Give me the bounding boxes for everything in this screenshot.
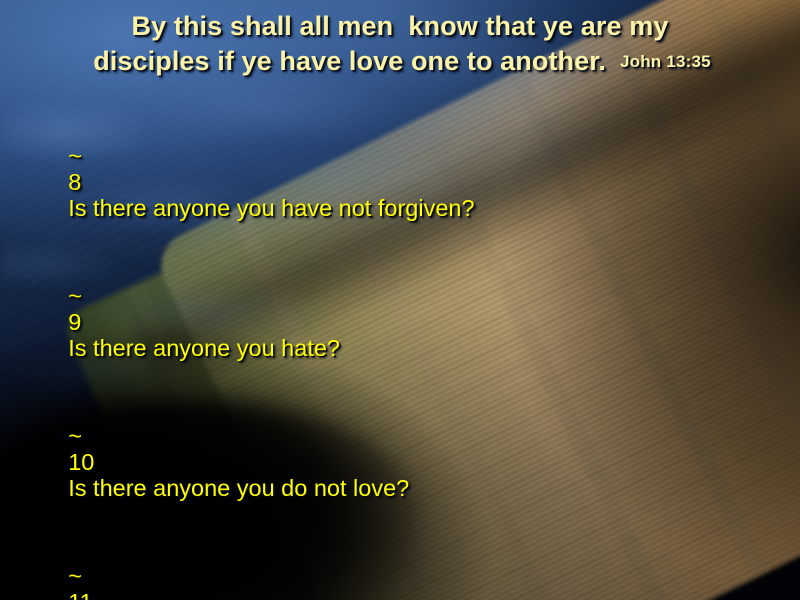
question-marker: ~: [68, 283, 82, 309]
question-number: 8: [68, 169, 81, 195]
question-text: Is there anyone you do not love?: [68, 475, 409, 501]
question-marker: ~: [68, 143, 82, 169]
question-text: Is there anyone you have not forgiven?: [68, 195, 474, 221]
presentation-slide: By this shall all men know that ye are m…: [0, 0, 800, 600]
slide-content: By this shall all men know that ye are m…: [0, 0, 800, 600]
question-number: 11: [68, 589, 92, 600]
question-number: 9: [68, 309, 81, 335]
scripture-line-2-row: disciples if ye have love one to another…: [0, 44, 800, 82]
question-list: ~ 8 Is there anyone you have not forgive…: [16, 117, 776, 600]
question-item-11: ~ 11 Are there any misunderstandings tha…: [16, 537, 776, 600]
question-item-8: ~ 8 Is there anyone you have not forgive…: [16, 117, 776, 247]
scripture-reference: John 13:35: [606, 52, 711, 71]
question-marker: ~: [68, 563, 82, 589]
scripture-line-2: disciples if ye have love one to another…: [93, 46, 606, 76]
question-item-9: ~ 9 Is there anyone you hate?: [16, 257, 776, 387]
scripture-line-1: By this shall all men know that ye are m…: [0, 9, 800, 44]
question-number: 10: [68, 449, 94, 475]
question-item-10: ~ 10 Is there anyone you do not love?: [16, 397, 776, 527]
scripture-title: By this shall all men know that ye are m…: [0, 9, 800, 82]
question-text: Is there anyone you hate?: [68, 335, 340, 361]
question-marker: ~: [68, 423, 82, 449]
